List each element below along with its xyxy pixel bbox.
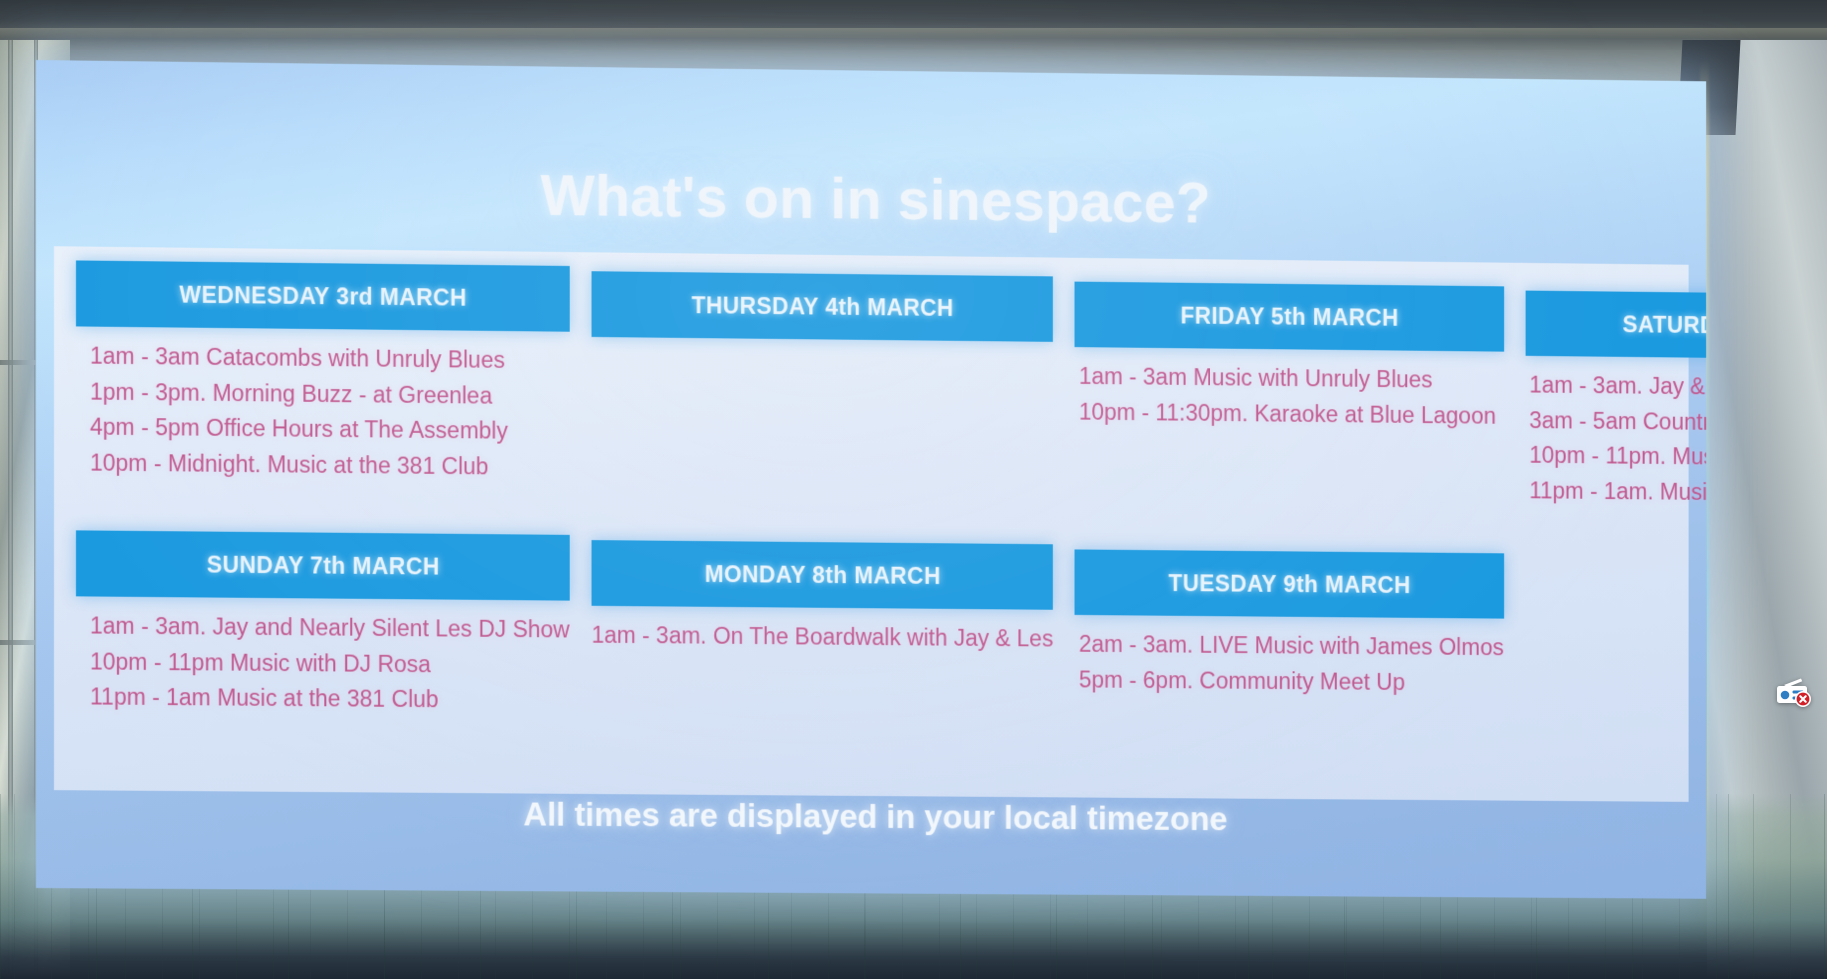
radio-muted-icon[interactable] xyxy=(1773,676,1813,709)
schedule-panel: WEDNESDAY 3rd MARCH1am - 3am Catacombs w… xyxy=(54,246,1689,802)
day-header[interactable]: SATURDAY 6th MARCH xyxy=(1525,291,1706,361)
day-header-label: SUNDAY 7th MARCH xyxy=(207,551,440,580)
event-list: 2am - 3am. LIVE Music with James Olmos5p… xyxy=(1075,627,1504,701)
projected-slide-screen: What's on in sinespace? WEDNESDAY 3rd MA… xyxy=(36,60,1706,899)
schedule-grid: WEDNESDAY 3rd MARCH1am - 3am Catacombs w… xyxy=(54,246,1689,802)
event-item: 10pm - 11:30pm. Karaoke at Blue Lagoon xyxy=(1075,394,1504,434)
event-list xyxy=(591,349,1053,354)
event-item: 3am - 5am Country & Western Hoedown xyxy=(1525,403,1706,443)
event-item: 1am - 3am Catacombs with Unruly Blues xyxy=(76,338,570,379)
event-item: 11pm - 1am. Music at the 381 Club xyxy=(1525,473,1706,512)
day-header[interactable]: TUESDAY 9th MARCH xyxy=(1075,549,1504,618)
ceiling-surface xyxy=(0,0,1827,50)
day-header[interactable]: WEDNESDAY 3rd MARCH xyxy=(76,260,570,331)
day-header-label: WEDNESDAY 3rd MARCH xyxy=(179,281,466,311)
day-column: WEDNESDAY 3rd MARCH1am - 3am Catacombs w… xyxy=(76,260,570,526)
day-header[interactable]: FRIDAY 5th MARCH xyxy=(1075,282,1504,352)
event-item: 10pm - Midnight. Music at the 381 Club xyxy=(76,445,570,485)
event-item: 5pm - 6pm. Community Meet Up xyxy=(1075,662,1504,701)
event-item: 4pm - 5pm Office Hours at The Assembly xyxy=(76,410,570,450)
day-column: SATURDAY 6th MARCH1am - 3am. Jay & Nearl… xyxy=(1525,277,1706,540)
event-list: 1am - 3am. On The Boardwalk with Jay & L… xyxy=(591,618,1053,657)
day-header[interactable]: THURSDAY 4th MARCH xyxy=(591,271,1053,342)
day-header[interactable]: SUNDAY 7th MARCH xyxy=(76,530,570,600)
day-header-label: SATURDAY 6th MARCH xyxy=(1623,311,1707,340)
event-list: 1am - 3am Music with Unruly Blues10pm - … xyxy=(1075,359,1504,434)
event-item: 10pm - 11pm. Music with DJ Rosa xyxy=(1525,438,1706,478)
day-column: TUESDAY 9th MARCH2am - 3am. LIVE Music w… xyxy=(1075,540,1504,803)
day-column: SUNDAY 7th MARCH1am - 3am. Jay and Nearl… xyxy=(76,530,570,795)
day-header-label: THURSDAY 4th MARCH xyxy=(692,292,954,322)
event-item: 11pm - 1am Music at the 381 Club xyxy=(76,680,570,719)
event-item: 1am - 3am. Jay and Nearly Silent Les DJ … xyxy=(76,608,570,648)
day-header[interactable]: MONDAY 8th MARCH xyxy=(591,540,1053,610)
event-item: 10pm - 11pm Music with DJ Rosa xyxy=(76,644,570,684)
event-list: 1am - 3am Catacombs with Unruly Blues1pm… xyxy=(76,338,570,485)
day-column: FRIDAY 5th MARCH1am - 3am Music with Unr… xyxy=(1075,272,1504,536)
day-header-label: MONDAY 8th MARCH xyxy=(705,561,941,590)
day-header-label: FRIDAY 5th MARCH xyxy=(1181,302,1399,331)
day-column: THURSDAY 4th MARCH xyxy=(591,266,1053,531)
event-item: 1pm - 3pm. Morning Buzz - at Greenlea xyxy=(76,374,570,415)
day-header-label: TUESDAY 9th MARCH xyxy=(1168,570,1410,599)
event-item: 1am - 3am Music with Unruly Blues xyxy=(1075,359,1504,399)
event-list: 1am - 3am. Jay and Nearly Silent Les DJ … xyxy=(76,608,570,719)
event-schedule-slide: What's on in sinespace? WEDNESDAY 3rd MA… xyxy=(36,60,1706,899)
page-title: What's on in sinespace? xyxy=(36,156,1706,242)
day-column: MONDAY 8th MARCH1am - 3am. On The Boardw… xyxy=(591,535,1053,799)
ceiling-beam xyxy=(0,28,1827,38)
event-item: 1am - 3am. Jay & Nearly Silent Les DJ Sh… xyxy=(1525,368,1706,408)
event-item: 2am - 3am. LIVE Music with James Olmos xyxy=(1075,627,1504,666)
event-item: 1am - 3am. On The Boardwalk with Jay & L… xyxy=(591,618,1053,657)
event-list: 1am - 3am. Jay & Nearly Silent Les DJ Sh… xyxy=(1525,368,1706,513)
virtual-world-scene: What's on in sinespace? WEDNESDAY 3rd MA… xyxy=(0,0,1827,979)
